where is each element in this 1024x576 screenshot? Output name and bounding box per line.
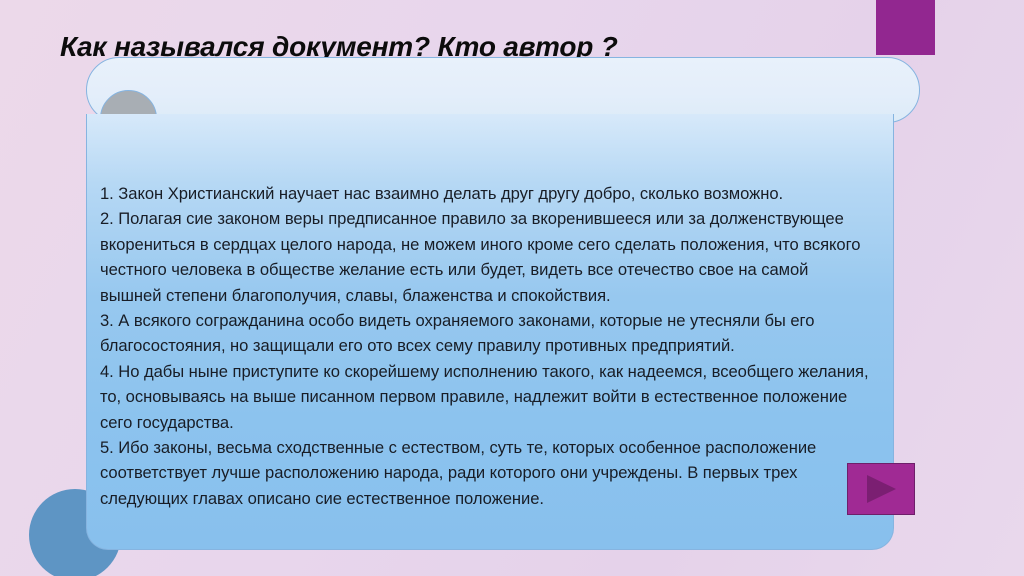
play-button[interactable] <box>847 463 915 515</box>
document-text-block: 1. Закон Христианский научает нас взаимн… <box>100 181 870 511</box>
content-callout: 1. Закон Христианский научает нас взаимн… <box>86 57 920 550</box>
slide-canvas: Как назывался документ? Кто автор ? 1. З… <box>0 0 1024 576</box>
paragraph-5: 5. Ибо законы, весьма сходственные с ест… <box>100 435 870 511</box>
play-icon <box>864 473 898 505</box>
paragraph-2: 2. Полагая сие законом веры предписанное… <box>100 206 870 308</box>
paragraph-1: 1. Закон Христианский научает нас взаимн… <box>100 181 870 206</box>
paragraph-3: 3. А всякого согражданина особо видеть о… <box>100 308 870 359</box>
purple-tab-decoration <box>876 0 935 55</box>
callout-body: 1. Закон Христианский научает нас взаимн… <box>86 114 894 550</box>
paragraph-4: 4. Но дабы ныне приступите ко скорейшему… <box>100 359 870 435</box>
